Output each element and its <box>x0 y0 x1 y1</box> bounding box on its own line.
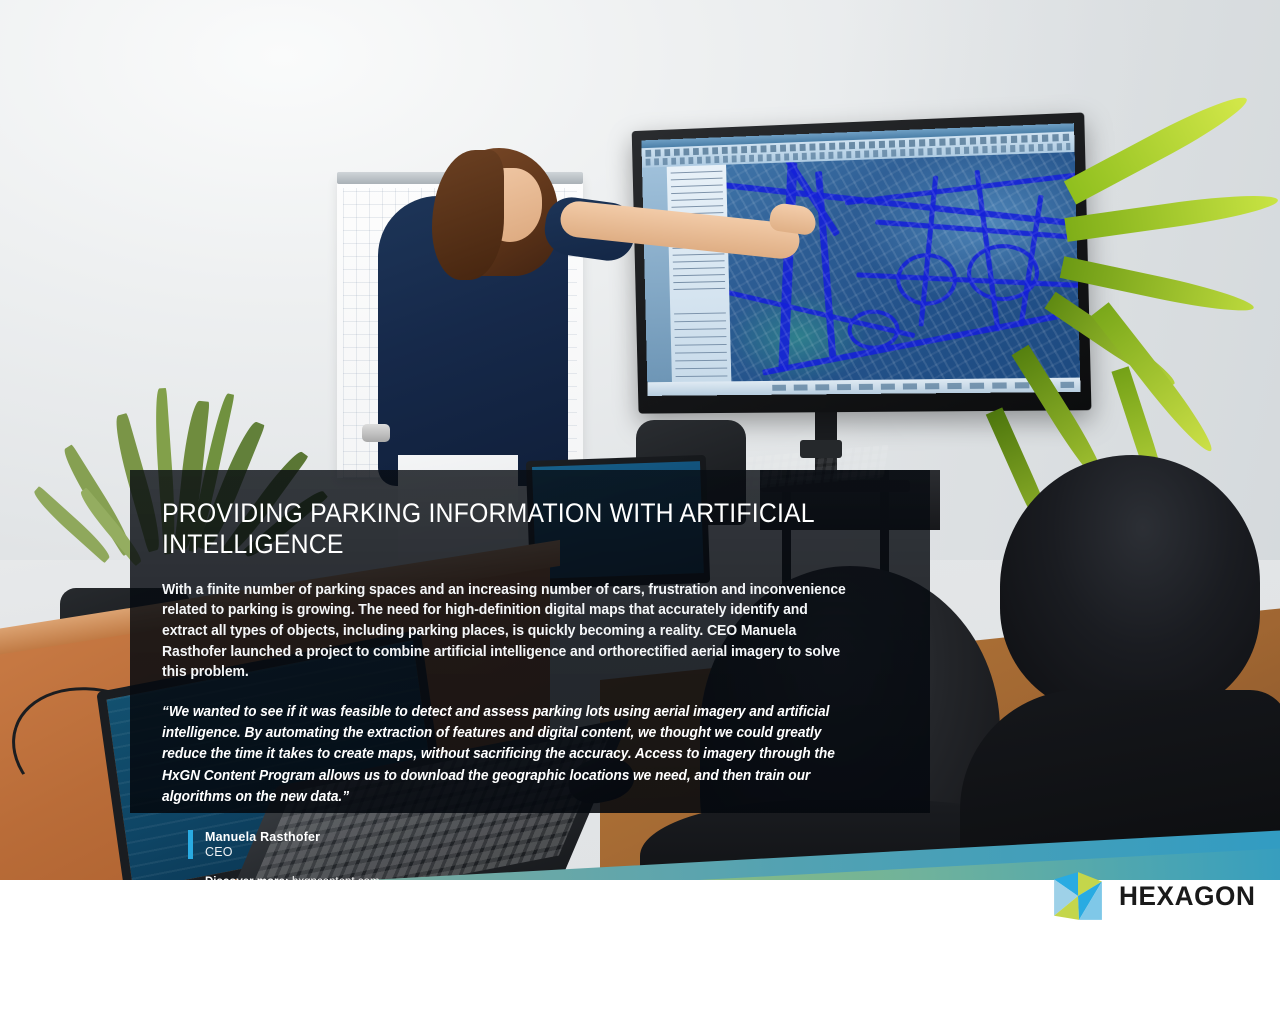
presenter-wristwatch <box>362 424 390 442</box>
accent-bar <box>188 830 193 859</box>
attribution-role: CEO <box>205 845 320 859</box>
page-title: PROVIDING PARKING INFORMATION WITH ARTIF… <box>162 498 824 560</box>
gis-layer-panel <box>667 165 732 382</box>
presentation-monitor <box>625 116 1087 417</box>
gis-layer-tree-secondary <box>674 312 727 381</box>
hexagon-logo: HEXAGON <box>1052 870 1260 922</box>
quote-attribution: Manuela Rasthofer CEO <box>162 830 882 859</box>
hexagon-logo-mark <box>1052 870 1104 922</box>
content-overlay-panel: PROVIDING PARKING INFORMATION WITH ARTIF… <box>130 470 930 813</box>
attribution-text: Manuela Rasthofer CEO <box>205 830 320 859</box>
viewer-foreground-right-head <box>1000 455 1260 715</box>
pull-quote: “We wanted to see if it was feasible to … <box>162 702 853 808</box>
network-device <box>800 440 842 458</box>
poster-page: H <box>0 0 1280 1024</box>
hexagon-wordmark: HEXAGON <box>1119 881 1255 912</box>
attribution-name: Manuela Rasthofer <box>205 830 320 844</box>
body-paragraph: With a finite number of parking spaces a… <box>162 580 853 684</box>
